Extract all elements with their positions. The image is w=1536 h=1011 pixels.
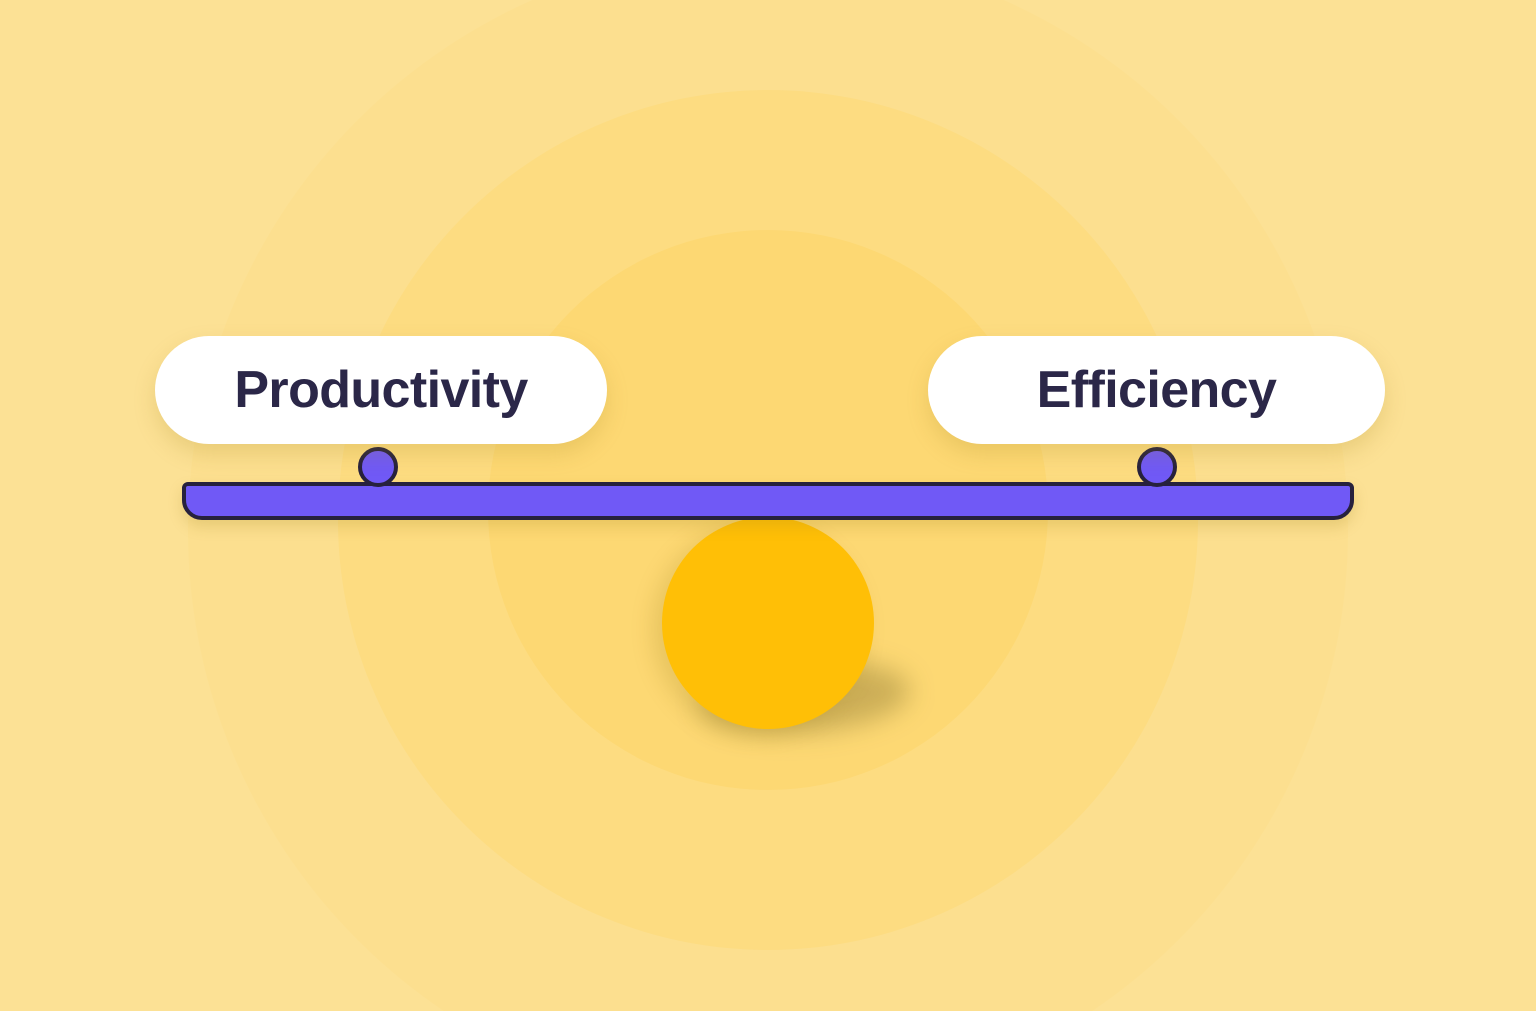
label-pill-efficiency: Efficiency: [928, 336, 1385, 444]
label-text-productivity: Productivity: [234, 364, 527, 416]
beam-knob-right: [1137, 447, 1177, 487]
beam-knob-left: [358, 447, 398, 487]
balance-beam: [182, 482, 1354, 520]
label-pill-productivity: Productivity: [155, 336, 607, 444]
balance-illustration: Productivity Efficiency: [0, 0, 1536, 1011]
fulcrum-ball: [662, 517, 874, 729]
label-text-efficiency: Efficiency: [1037, 364, 1277, 416]
